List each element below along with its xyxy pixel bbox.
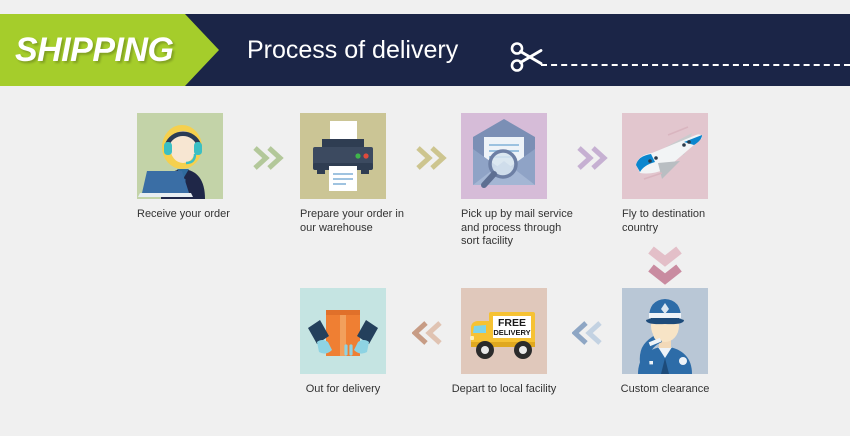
arrow-right-3 [577,146,615,170]
step-7-caption: Out for delivery [263,383,423,397]
header-green-arrow-point [185,14,219,86]
scissors-icon [510,42,544,72]
step-7-out-for-delivery[interactable]: Out for delivery [300,288,386,397]
dashed-cut-line [541,64,850,66]
step-2-prepare-order[interactable]: Prepare your order in our warehouse [300,113,386,235]
arrow-left-2 [412,321,450,345]
process-steps: Receive your order [0,86,850,436]
step-6-caption: Depart to local facility [424,383,584,397]
step-4-caption: Fly to destination country [622,208,740,235]
step-6-depart-local-facility[interactable]: FREE DELIVERY Depart to local facility [461,288,547,397]
arrow-right-2 [416,146,454,170]
step-5-custom-clearance[interactable]: Custom clearance [622,288,708,397]
customs-officer-icon [622,288,708,374]
arrow-left-1 [572,321,610,345]
svg-text:DELIVERY: DELIVERY [493,328,530,337]
step-1-caption: Receive your order [137,208,255,222]
shipping-badge-label: SHIPPING [15,32,180,68]
arrow-right-1 [253,146,291,170]
envelope-magnifier-icon [461,113,547,199]
delivery-truck-icon: FREE DELIVERY [461,288,547,374]
page-header: SHIPPING Process of delivery [0,14,850,86]
step-2-caption: Prepare your order in our warehouse [300,208,418,235]
step-1-receive-order[interactable]: Receive your order [137,113,223,222]
arrow-down-1 [645,246,685,290]
page-title: Process of delivery [247,34,458,66]
customer-service-agent-icon [137,113,223,199]
step-4-fly-destination[interactable]: Fly to destination country [622,113,708,235]
printer-icon [300,113,386,199]
step-5-caption: Custom clearance [585,383,745,397]
step-3-mail-sort[interactable]: Pick up by mail service and process thro… [461,113,547,249]
hands-holding-box-icon [300,288,386,374]
airplane-icon [622,113,708,199]
step-3-caption: Pick up by mail service and process thro… [461,208,579,249]
